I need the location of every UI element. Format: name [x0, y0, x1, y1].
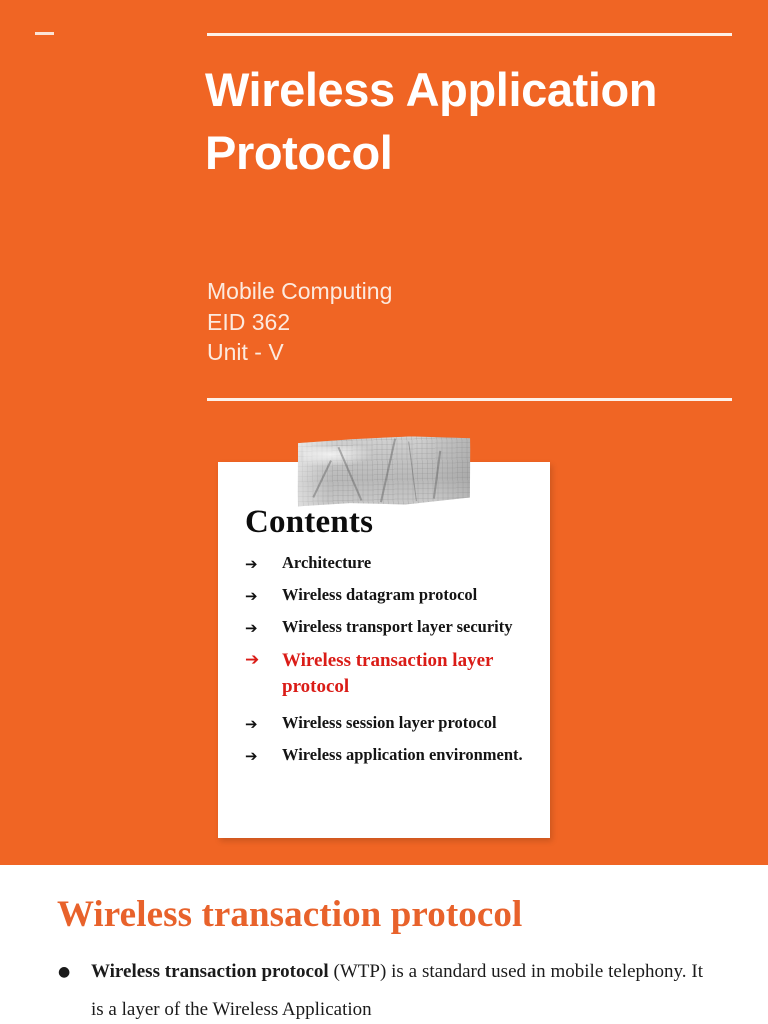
- arrow-right-icon: ➔: [245, 712, 282, 735]
- title-top-rule: [207, 33, 732, 36]
- corner-dash-mark: [35, 32, 54, 35]
- arrow-right-icon: ➔: [245, 552, 282, 575]
- contents-item-wireless-transport-layer-security[interactable]: ➔ Wireless transport layer security: [245, 616, 530, 639]
- paragraph-bold-lead: Wireless transaction protocol: [91, 961, 329, 982]
- section-heading: Wireless transaction protocol: [57, 893, 522, 936]
- contents-list: ➔ Architecture ➔ Wireless datagram proto…: [245, 552, 530, 776]
- contents-item-label: Architecture: [282, 552, 530, 574]
- arrow-right-icon: ➔: [245, 744, 282, 767]
- contents-card: Contents ➔ Architecture ➔ Wireless datag…: [218, 462, 550, 838]
- slide-subtitle-block: Mobile Computing EID 362 Unit - V: [207, 276, 392, 368]
- contents-item-label: Wireless session layer protocol: [282, 712, 530, 734]
- contents-item-wireless-session-layer-protocol[interactable]: ➔ Wireless session layer protocol: [245, 712, 530, 735]
- subtitle-line-unit: Unit - V: [207, 337, 392, 368]
- duct-tape-icon: [296, 435, 472, 507]
- bullet-point-icon: ●: [55, 953, 91, 991]
- contents-item-label: Wireless transport layer security: [282, 616, 530, 638]
- contents-item-label: Wireless datagram protocol: [282, 584, 530, 606]
- contents-item-label: Wireless transaction layer protocol: [282, 648, 530, 700]
- title-bottom-rule: [207, 398, 732, 401]
- contents-item-wireless-transaction-layer-protocol[interactable]: ➔ Wireless transaction layer protocol: [245, 648, 530, 700]
- contents-item-architecture[interactable]: ➔ Architecture: [245, 552, 530, 575]
- contents-item-wireless-datagram-protocol[interactable]: ➔ Wireless datagram protocol: [245, 584, 530, 607]
- document-section: Wireless transaction protocol ● Wireless…: [0, 865, 768, 1024]
- contents-item-wireless-application-environment[interactable]: ➔ Wireless application environment.: [245, 744, 530, 767]
- contents-item-label: Wireless application environment.: [282, 744, 530, 766]
- body-paragraph: Wireless transaction protocol (WTP) is a…: [91, 953, 703, 1024]
- subtitle-line-course: Mobile Computing: [207, 276, 392, 307]
- page-title: Wireless Application Protocol: [205, 58, 745, 184]
- arrow-right-icon: ➔: [245, 584, 282, 607]
- bullet-paragraph-row: ● Wireless transaction protocol (WTP) is…: [55, 953, 703, 1024]
- document-body: ● Wireless transaction protocol (WTP) is…: [55, 953, 703, 1024]
- title-slide: Wireless Application Protocol Mobile Com…: [0, 0, 768, 865]
- subtitle-line-code: EID 362: [207, 307, 392, 338]
- arrow-right-icon: ➔: [245, 648, 282, 671]
- contents-heading: Contents: [245, 504, 373, 541]
- arrow-right-icon: ➔: [245, 616, 282, 639]
